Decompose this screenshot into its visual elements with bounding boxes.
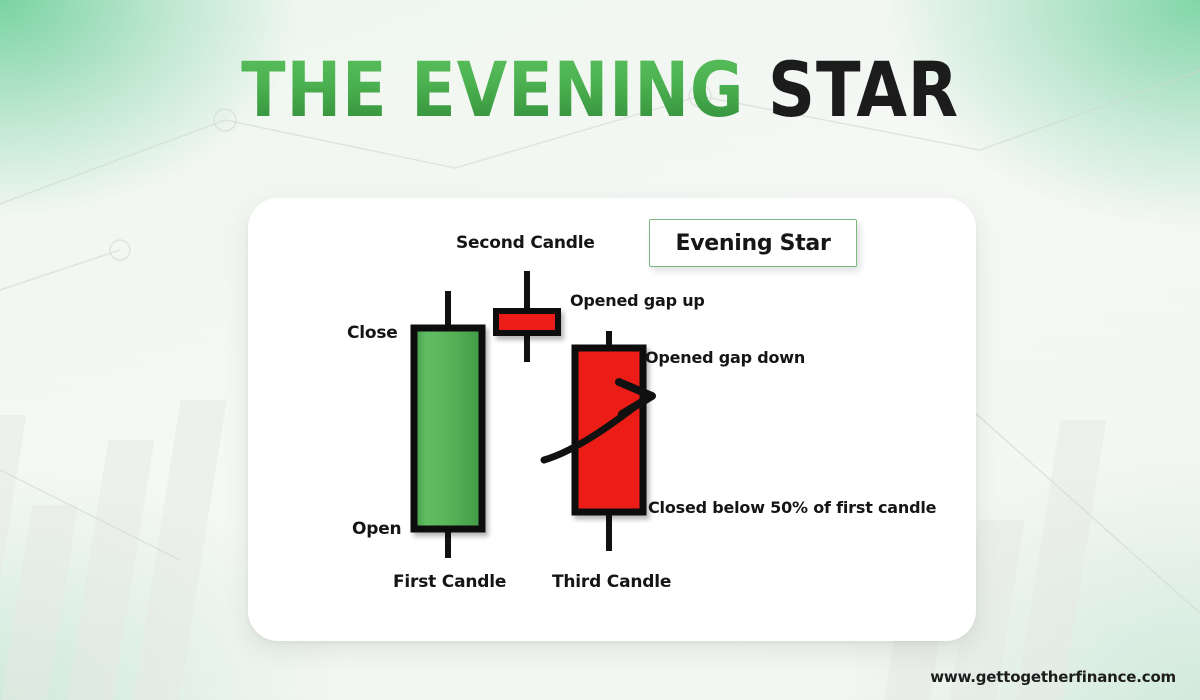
page-title: THE EVENING STAR	[84, 52, 1116, 128]
footer-website-url: www.gettogetherfinance.com	[930, 668, 1176, 686]
candle-second	[496, 271, 558, 362]
evening-star-callout-label: Evening Star	[675, 231, 830, 256]
infographic-canvas: THE EVENING STAR	[0, 0, 1200, 700]
candle-third-body	[575, 348, 643, 512]
title-green-part: THE EVENING	[241, 45, 744, 134]
candle-second-body	[496, 311, 558, 333]
label-third-candle: Third Candle	[552, 572, 671, 592]
label-opened-gap-up: Opened gap up	[570, 291, 705, 310]
candle-first	[414, 291, 482, 558]
title-dark-part: STAR	[768, 45, 959, 134]
label-close: Close	[347, 323, 398, 343]
label-open: Open	[352, 519, 401, 539]
evening-star-callout: Evening Star	[649, 219, 857, 267]
candle-first-body	[414, 328, 482, 529]
label-closed-below-fifty-percent: Closed below 50% of first candle	[648, 498, 936, 517]
label-first-candle: First Candle	[393, 572, 506, 592]
label-opened-gap-down: Opened gap down	[645, 348, 805, 367]
label-second-candle: Second Candle	[456, 233, 595, 253]
